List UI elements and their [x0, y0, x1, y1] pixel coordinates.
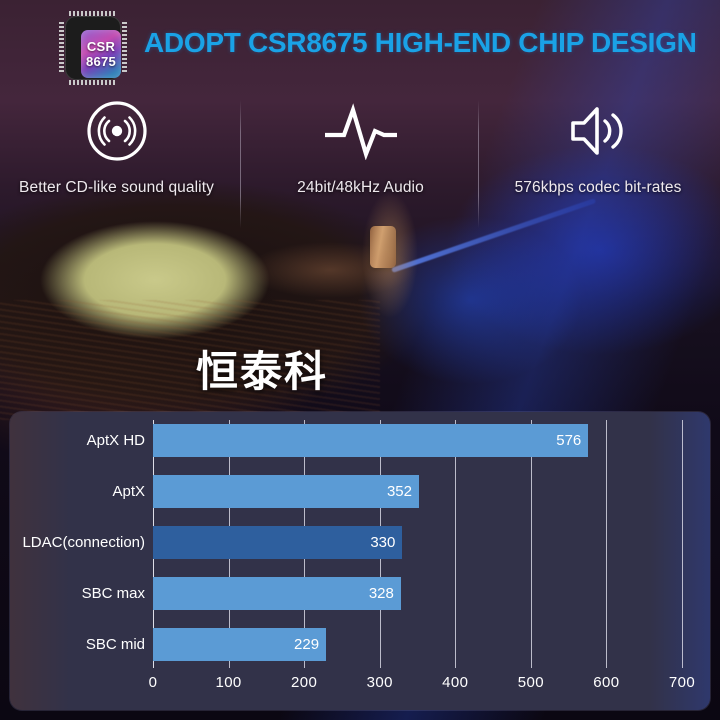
speaker-volume-icon — [492, 100, 704, 162]
chart-bar-value: 330 — [370, 526, 395, 559]
chart-bar-row: LDAC(connection)330 — [10, 526, 710, 559]
chart-bar-row: SBC max328 — [10, 577, 710, 610]
turntable-spindle — [370, 226, 396, 268]
chip-label-line1: CSR — [87, 40, 115, 53]
chart-bar: 328 — [153, 577, 401, 610]
feature-label-audio-rate: 24bit/48kHz Audio — [258, 178, 463, 198]
chart-bar: 229 — [153, 628, 326, 661]
x-axis-tick-label: 400 — [442, 674, 468, 691]
chip-pins-left — [59, 22, 64, 74]
vinyl-disc-icon — [14, 100, 219, 162]
page-title: ADOPT CSR8675 HIGH-END CHIP DESIGN — [144, 27, 697, 59]
chip-body: CSR 8675 — [65, 16, 121, 80]
chip-pins-right — [122, 22, 127, 74]
csr-chip-icon: CSR 8675 — [57, 10, 129, 86]
chart-bar-row: AptX352 — [10, 475, 710, 508]
bitrate-bar-chart-panel: 0100200300400500600700AptX HD576AptX352L… — [10, 412, 710, 710]
chart-category-label: AptX HD — [87, 424, 145, 457]
chart-bar: 352 — [153, 475, 419, 508]
chart-category-label: LDAC(connection) — [22, 526, 145, 559]
chart-bar: 330 — [153, 526, 402, 559]
feature-item-audio-rate: 24bit/48kHz Audio — [258, 100, 463, 198]
x-axis-tick-label: 0 — [149, 674, 158, 691]
chart-bar: 576 — [153, 424, 588, 457]
x-axis-tick-label: 300 — [367, 674, 393, 691]
chart-bar-row: SBC mid229 — [10, 628, 710, 661]
header-banner: CSR 8675 ADOPT CSR8675 HIGH-END CHIP DES… — [0, 0, 720, 95]
chart-bar-row: AptX HD576 — [10, 424, 710, 457]
watermark-text: 恒泰科 — [196, 338, 328, 399]
x-axis-tick-label: 500 — [518, 674, 544, 691]
chart-category-label: AptX — [112, 475, 145, 508]
feature-label-cd-quality: Better CD-like sound quality — [14, 178, 219, 198]
waveform-pulse-icon — [258, 100, 463, 162]
x-axis-tick-label: 100 — [215, 674, 241, 691]
feature-item-cd-quality: Better CD-like sound quality — [14, 100, 219, 198]
chip-die: CSR 8675 — [81, 30, 121, 78]
feature-divider-1 — [240, 100, 241, 228]
chip-label-line2: 8675 — [86, 55, 116, 68]
chart-plot-area: 0100200300400500600700AptX HD576AptX352L… — [10, 412, 710, 710]
chart-bar-value: 352 — [387, 475, 412, 508]
chart-bar-value: 229 — [294, 628, 319, 661]
x-axis-tick-label: 600 — [593, 674, 619, 691]
chart-bar-value: 576 — [556, 424, 581, 457]
x-axis-tick-label: 700 — [669, 674, 695, 691]
chart-bar-value: 328 — [369, 577, 394, 610]
chip-pins-bottom — [69, 80, 117, 85]
chart-category-label: SBC max — [82, 577, 145, 610]
feature-divider-2 — [478, 100, 479, 228]
x-axis-tick-label: 200 — [291, 674, 317, 691]
feature-row: Better CD-like sound quality 24bit/48kHz… — [0, 100, 720, 230]
feature-label-codec-bitrate: 576kbps codec bit-rates — [492, 178, 704, 198]
chart-category-label: SBC mid — [86, 628, 145, 661]
feature-item-codec-bitrate: 576kbps codec bit-rates — [492, 100, 704, 198]
product-infographic-page: CSR 8675 ADOPT CSR8675 HIGH-END CHIP DES… — [0, 0, 720, 720]
